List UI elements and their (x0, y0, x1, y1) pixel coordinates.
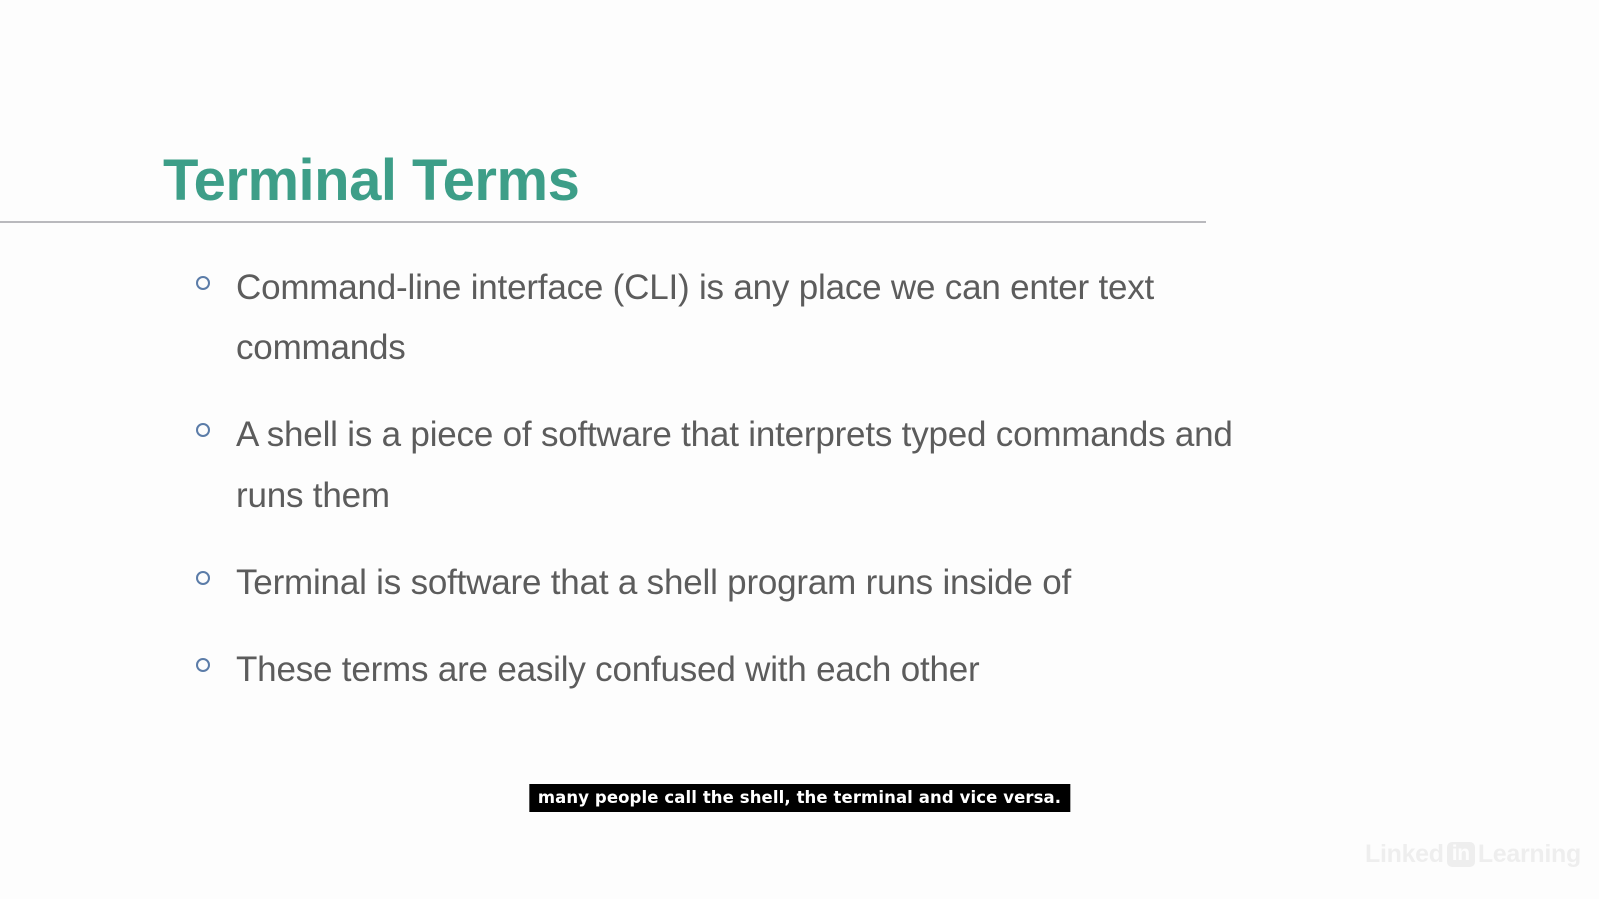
circle-bullet-icon (196, 571, 210, 585)
list-item-label: These terms are easily confused with eac… (236, 640, 1286, 700)
bullet-list: Command-line interface (CLI) is any plac… (196, 258, 1286, 727)
circle-bullet-icon (196, 423, 210, 437)
list-item: Terminal is software that a shell progra… (196, 553, 1286, 613)
linkedin-learning-logo: Linked in Learning (1365, 842, 1581, 867)
list-item: Command-line interface (CLI) is any plac… (196, 258, 1286, 378)
circle-bullet-icon (196, 276, 210, 290)
list-item: These terms are easily confused with eac… (196, 640, 1286, 700)
list-item-label: A shell is a piece of software that inte… (236, 405, 1286, 525)
page-title: Terminal Terms (163, 149, 579, 213)
video-caption-overlay: many people call the shell, the terminal… (529, 784, 1070, 812)
circle-bullet-icon (196, 658, 210, 672)
list-item-label: Command-line interface (CLI) is any plac… (236, 258, 1286, 378)
presentation-slide: Terminal Terms Command-line interface (C… (0, 0, 1599, 899)
logo-in-badge: in (1447, 842, 1475, 867)
logo-word-learning: Learning (1478, 842, 1581, 867)
title-divider (0, 221, 1206, 223)
list-item: A shell is a piece of software that inte… (196, 405, 1286, 525)
logo-word-linked: Linked (1365, 842, 1444, 867)
list-item-label: Terminal is software that a shell progra… (236, 553, 1286, 613)
